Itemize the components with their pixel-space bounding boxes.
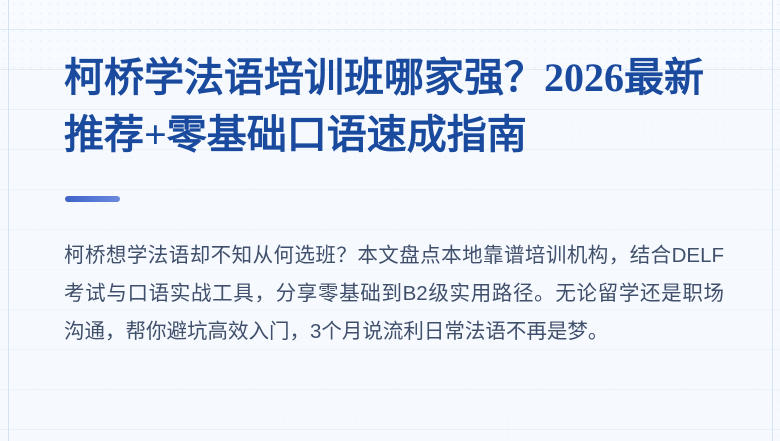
title-accent-divider [65,196,120,202]
page-title: 柯桥学法语培训班哪家强？2026最新推荐+零基础口语速成指南 [64,49,724,163]
article-cover-card: 柯桥学法语培训班哪家强？2026最新推荐+零基础口语速成指南 柯桥想学法语却不知… [0,0,780,441]
article-summary: 柯桥想学法语却不知从何选班？本文盘点本地靠谱培训机构，结合DELF考试与口语实战… [64,237,724,351]
cover-content: 柯桥学法语培训班哪家强？2026最新推荐+零基础口语速成指南 柯桥想学法语却不知… [0,0,780,441]
